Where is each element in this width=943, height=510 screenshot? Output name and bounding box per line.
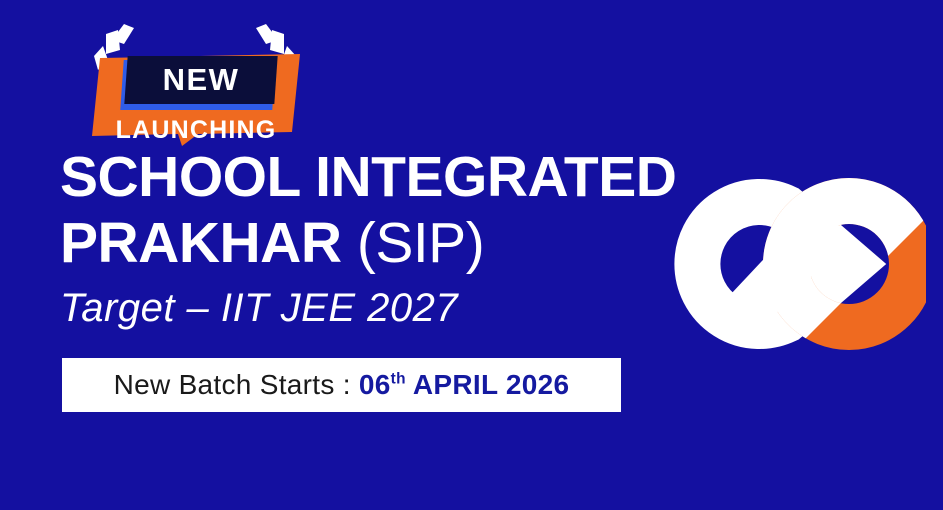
launching-label: LAUNCHING: [86, 116, 306, 145]
promo-banner: NEW LAUNCHING SCHOOL INTEGRATED PRAKHAR …: [0, 0, 943, 510]
headline-line-2: PRAKHAR (SIP): [60, 210, 680, 276]
batch-start-bar: New Batch Starts : 06th APRIL 2026: [62, 358, 621, 412]
new-launching-badge: NEW LAUNCHING: [86, 24, 306, 146]
headline-line-2-paren: (SIP): [357, 211, 484, 275]
batch-start-month-year: APRIL 2026: [406, 369, 570, 400]
badge-bubble: NEW LAUNCHING: [86, 54, 306, 146]
headline-tagline: Target – IIT JEE 2027: [60, 286, 680, 331]
batch-start-ordinal: th: [391, 371, 406, 388]
batch-start-prefix: New Batch Starts :: [114, 369, 359, 400]
batch-start-text: New Batch Starts : 06th APRIL 2026: [114, 371, 570, 399]
new-label: NEW: [126, 56, 276, 104]
headline-line-2-main: PRAKHAR: [60, 211, 357, 275]
headline-block: SCHOOL INTEGRATED PRAKHAR (SIP) Target –…: [60, 144, 680, 331]
headline-line-1: SCHOOL INTEGRATED: [60, 144, 680, 210]
infinity-logo: [636, 168, 926, 360]
batch-start-day: 06: [359, 369, 391, 400]
